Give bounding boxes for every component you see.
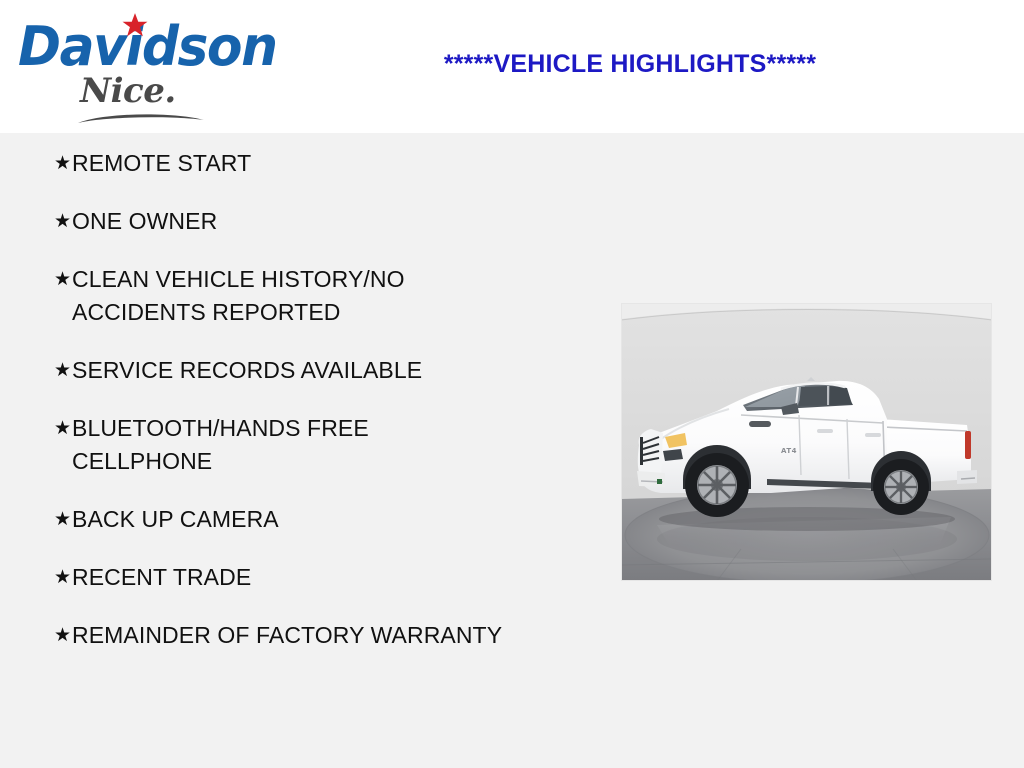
list-item: ★REMOTE START (40, 147, 640, 180)
page-title: *****VEHICLE HIGHLIGHTS***** (300, 50, 960, 79)
star-bullet-icon: ★ (40, 619, 72, 652)
dealer-logo[interactable]: Davidson Nice. (18, 6, 278, 126)
star-bullet-icon: ★ (40, 561, 72, 594)
highlight-label: BLUETOOTH/HANDS FREE CELLPHONE (72, 412, 512, 478)
highlight-label: REMOTE START (72, 147, 512, 180)
list-item: ★SERVICE RECORDS AVAILABLE (40, 354, 640, 387)
vehicle-highlights-list: ★REMOTE START★ONE OWNER★CLEAN VEHICLE HI… (0, 133, 640, 677)
dealer-logo-sub-text: Nice. (80, 74, 176, 108)
list-item: ★CLEAN VEHICLE HISTORY/NO ACCIDENTS REPO… (40, 263, 640, 329)
svg-text:AT4: AT4 (781, 447, 797, 455)
vehicle-highlights-page: Davidson Nice. *****VEHICLE HIGHLIGHTS**… (0, 0, 1024, 768)
star-bullet-icon: ★ (40, 263, 72, 296)
list-item: ★REMAINDER OF FACTORY WARRANTY (40, 619, 640, 652)
highlight-label: CLEAN VEHICLE HISTORY/NO ACCIDENTS REPOR… (72, 263, 512, 329)
list-item: ★RECENT TRADE (40, 561, 640, 594)
highlight-label: ONE OWNER (72, 205, 512, 238)
list-item: ★BLUETOOTH/HANDS FREE CELLPHONE (40, 412, 640, 478)
star-bullet-icon: ★ (40, 354, 72, 387)
star-bullet-icon: ★ (40, 503, 72, 536)
highlight-label: REMAINDER OF FACTORY WARRANTY (72, 619, 512, 652)
list-item: ★ONE OWNER (40, 205, 640, 238)
star-bullet-icon: ★ (40, 412, 72, 445)
highlight-label: SERVICE RECORDS AVAILABLE (72, 354, 512, 387)
highlight-label: BACK UP CAMERA (72, 503, 512, 536)
list-item: ★BACK UP CAMERA (40, 503, 640, 536)
header-band: Davidson Nice. *****VEHICLE HIGHLIGHTS**… (0, 0, 1024, 133)
logo-swoosh-underline (76, 110, 206, 126)
star-icon (122, 12, 148, 38)
vehicle-photo[interactable]: AT4 (621, 303, 992, 581)
star-bullet-icon: ★ (40, 147, 72, 180)
highlight-label: RECENT TRADE (72, 561, 512, 594)
star-bullet-icon: ★ (40, 205, 72, 238)
